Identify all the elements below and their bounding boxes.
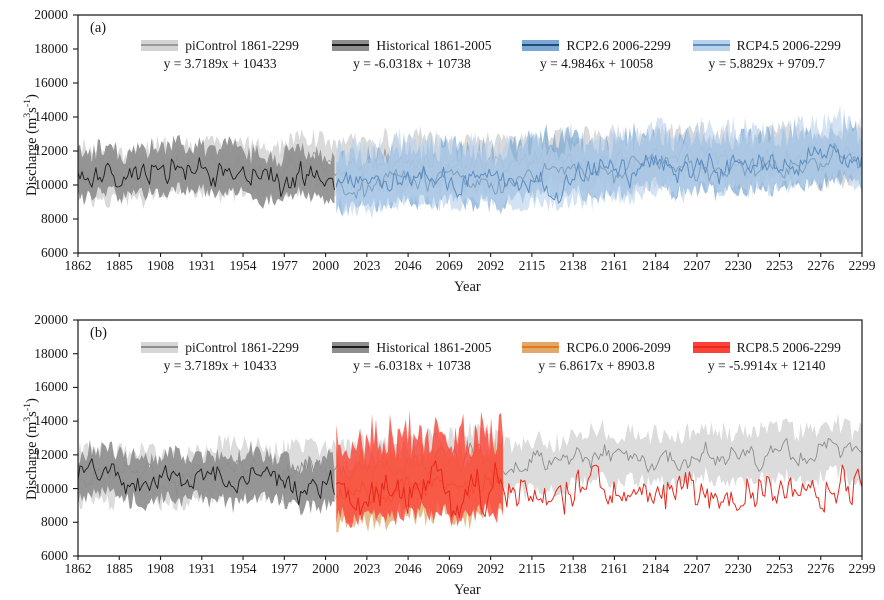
y-axis-tick-label: 18000 xyxy=(6,42,68,56)
legend-trend-equation: y = -6.0318x + 10738 xyxy=(353,358,471,374)
legend-trend-equation: y = 6.8617x + 8903.8 xyxy=(538,358,654,374)
legend-swatch xyxy=(332,40,369,51)
legend: piControl 1861-2299y = 3.7189x + 10433Hi… xyxy=(126,38,850,72)
x-axis-tick-label: 1954 xyxy=(220,562,266,576)
y-axis-tick-label: 16000 xyxy=(6,76,68,90)
legend-swatch xyxy=(693,40,730,51)
legend-trend-equation: y = 4.9846x + 10058 xyxy=(540,56,653,72)
legend-trend-equation: y = 3.7189x + 10433 xyxy=(164,358,277,374)
y-axis-tick-label: 20000 xyxy=(6,313,68,327)
series-group xyxy=(78,105,862,219)
legend-entry[interactable]: RCP8.5 2006-2299y = -5.9914x + 12140 xyxy=(683,340,850,374)
x-axis-tick-label: 2161 xyxy=(591,259,637,273)
x-axis-tick-label: 2253 xyxy=(756,259,802,273)
y-axis-tick-label: 20000 xyxy=(6,8,68,22)
legend-entry[interactable]: Historical 1861-2005y = -6.0318x + 10738 xyxy=(314,38,509,72)
legend-trend-equation: y = 5.8829x + 9709.7 xyxy=(708,56,824,72)
x-axis-tick-label: 2000 xyxy=(303,259,349,273)
legend-swatch xyxy=(522,40,559,51)
legend-swatch xyxy=(141,40,178,51)
x-axis-tick-label: 1931 xyxy=(179,259,225,273)
legend-label: RCP4.5 2006-2299 xyxy=(737,38,841,54)
y-axis-tick-label: 16000 xyxy=(6,380,68,394)
x-axis-tick-label: 2023 xyxy=(344,562,390,576)
legend-label: piControl 1861-2299 xyxy=(185,38,299,54)
x-axis-tick-label: 2230 xyxy=(715,562,761,576)
x-axis-tick-label: 2207 xyxy=(674,259,720,273)
x-axis-title: Year xyxy=(454,279,481,296)
x-axis-tick-label: 1954 xyxy=(220,259,266,273)
legend-swatch-line xyxy=(332,346,369,348)
legend-label: RCP8.5 2006-2299 xyxy=(737,340,841,356)
x-axis-tick-label: 2023 xyxy=(344,259,390,273)
y-axis-tick-label: 8000 xyxy=(6,515,68,529)
x-axis-tick-label: 2092 xyxy=(468,562,514,576)
x-axis-tick-label: 2115 xyxy=(509,562,555,576)
legend: piControl 1861-2299y = 3.7189x + 10433Hi… xyxy=(126,340,850,374)
x-axis-tick-label: 1885 xyxy=(96,259,142,273)
chart-panel-b: 6000800010000120001400016000180002000018… xyxy=(0,300,884,600)
x-axis-tick-label: 2253 xyxy=(756,562,802,576)
x-axis-tick-label: 1908 xyxy=(138,562,184,576)
legend-label: RCP2.6 2006-2299 xyxy=(566,38,670,54)
x-axis-tick-label: 2299 xyxy=(839,562,884,576)
legend-label: Historical 1861-2005 xyxy=(376,38,491,54)
y-axis-tick-label: 6000 xyxy=(6,549,68,563)
x-axis-tick-label: 2207 xyxy=(674,562,720,576)
x-axis-tick-label: 2069 xyxy=(426,259,472,273)
x-axis-tick-label: 2161 xyxy=(591,562,637,576)
legend-swatch-line xyxy=(693,44,730,46)
y-axis-title: Discharge (m3s-1) xyxy=(22,94,41,196)
x-axis-tick-label: 1862 xyxy=(55,562,101,576)
x-axis-tick-label: 2299 xyxy=(839,259,884,273)
x-axis-tick-label: 1977 xyxy=(261,562,307,576)
legend-entry[interactable]: piControl 1861-2299y = 3.7189x + 10433 xyxy=(126,38,314,72)
legend-swatch xyxy=(141,342,178,353)
panel-tag: (a) xyxy=(90,20,106,37)
panel-tag: (b) xyxy=(90,325,107,342)
y-axis-tick-label: 18000 xyxy=(6,347,68,361)
legend-entry[interactable]: RCP4.5 2006-2299y = 5.8829x + 9709.7 xyxy=(683,38,850,72)
legend-swatch-line xyxy=(141,346,178,348)
x-axis-tick-label: 2276 xyxy=(798,259,844,273)
legend-swatch-line xyxy=(522,346,559,348)
legend-entry[interactable]: piControl 1861-2299y = 3.7189x + 10433 xyxy=(126,340,314,374)
x-axis-tick-label: 1931 xyxy=(179,562,225,576)
legend-label: RCP6.0 2006-2099 xyxy=(566,340,670,356)
figure-canvas: 6000800010000120001400016000180002000018… xyxy=(0,0,884,600)
x-axis-tick-label: 2092 xyxy=(468,259,514,273)
x-axis-tick-label: 2069 xyxy=(426,562,472,576)
y-axis-title: Discharge (m3s-1) xyxy=(22,398,41,500)
x-axis-tick-label: 2000 xyxy=(303,562,349,576)
legend-swatch-line xyxy=(693,346,730,348)
x-axis-tick-label: 1885 xyxy=(96,562,142,576)
x-axis-tick-label: 2046 xyxy=(385,259,431,273)
legend-swatch xyxy=(693,342,730,353)
legend-swatch-line xyxy=(332,44,369,46)
x-axis-tick-label: 1862 xyxy=(55,259,101,273)
x-axis-tick-label: 2115 xyxy=(509,259,555,273)
x-axis-tick-label: 1977 xyxy=(261,259,307,273)
legend-entry[interactable]: RCP2.6 2006-2299y = 4.9846x + 10058 xyxy=(510,38,684,72)
legend-trend-equation: y = 3.7189x + 10433 xyxy=(164,56,277,72)
x-axis-tick-label: 1908 xyxy=(138,259,184,273)
legend-label: Historical 1861-2005 xyxy=(376,340,491,356)
legend-trend-equation: y = -6.0318x + 10738 xyxy=(353,56,471,72)
y-axis-tick-label: 6000 xyxy=(6,246,68,260)
x-axis-tick-label: 2276 xyxy=(798,562,844,576)
x-axis-title: Year xyxy=(454,582,481,599)
x-axis-tick-label: 2046 xyxy=(385,562,431,576)
x-axis-tick-label: 2184 xyxy=(633,259,679,273)
x-axis-tick-label: 2138 xyxy=(550,562,596,576)
x-axis-tick-label: 2184 xyxy=(633,562,679,576)
legend-label: piControl 1861-2299 xyxy=(185,340,299,356)
chart-panel-a: 6000800010000120001400016000180002000018… xyxy=(0,0,884,300)
x-axis-tick-label: 2138 xyxy=(550,259,596,273)
legend-swatch-line xyxy=(522,44,559,46)
series-group xyxy=(78,410,862,533)
x-axis-tick-label: 2230 xyxy=(715,259,761,273)
legend-swatch xyxy=(522,342,559,353)
legend-swatch-line xyxy=(141,44,178,46)
legend-entry[interactable]: RCP6.0 2006-2099y = 6.8617x + 8903.8 xyxy=(510,340,684,374)
legend-entry[interactable]: Historical 1861-2005y = -6.0318x + 10738 xyxy=(314,340,509,374)
legend-swatch xyxy=(332,342,369,353)
y-axis-tick-label: 8000 xyxy=(6,212,68,226)
legend-trend-equation: y = -5.9914x + 12140 xyxy=(708,358,826,374)
